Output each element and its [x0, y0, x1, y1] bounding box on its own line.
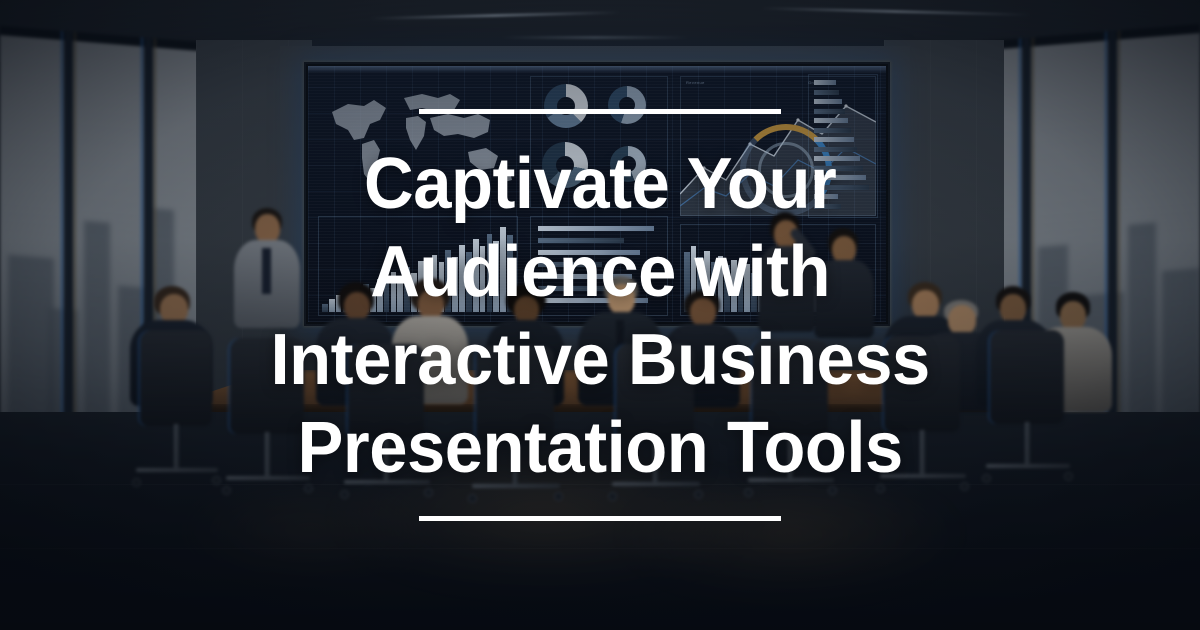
title-line: Presentation Tools	[270, 404, 929, 492]
title-overlay: Captivate Your Audience with Interactive…	[0, 0, 1200, 630]
title-line: Captivate Your	[270, 140, 929, 228]
banner-image: Revenue Growth	[0, 0, 1200, 630]
page-title: Captivate Your Audience with Interactive…	[270, 140, 929, 492]
decorative-rule-bottom	[419, 516, 781, 521]
title-line: Interactive Business	[270, 316, 929, 404]
title-line: Audience with	[270, 228, 929, 316]
decorative-rule-top	[419, 109, 781, 114]
